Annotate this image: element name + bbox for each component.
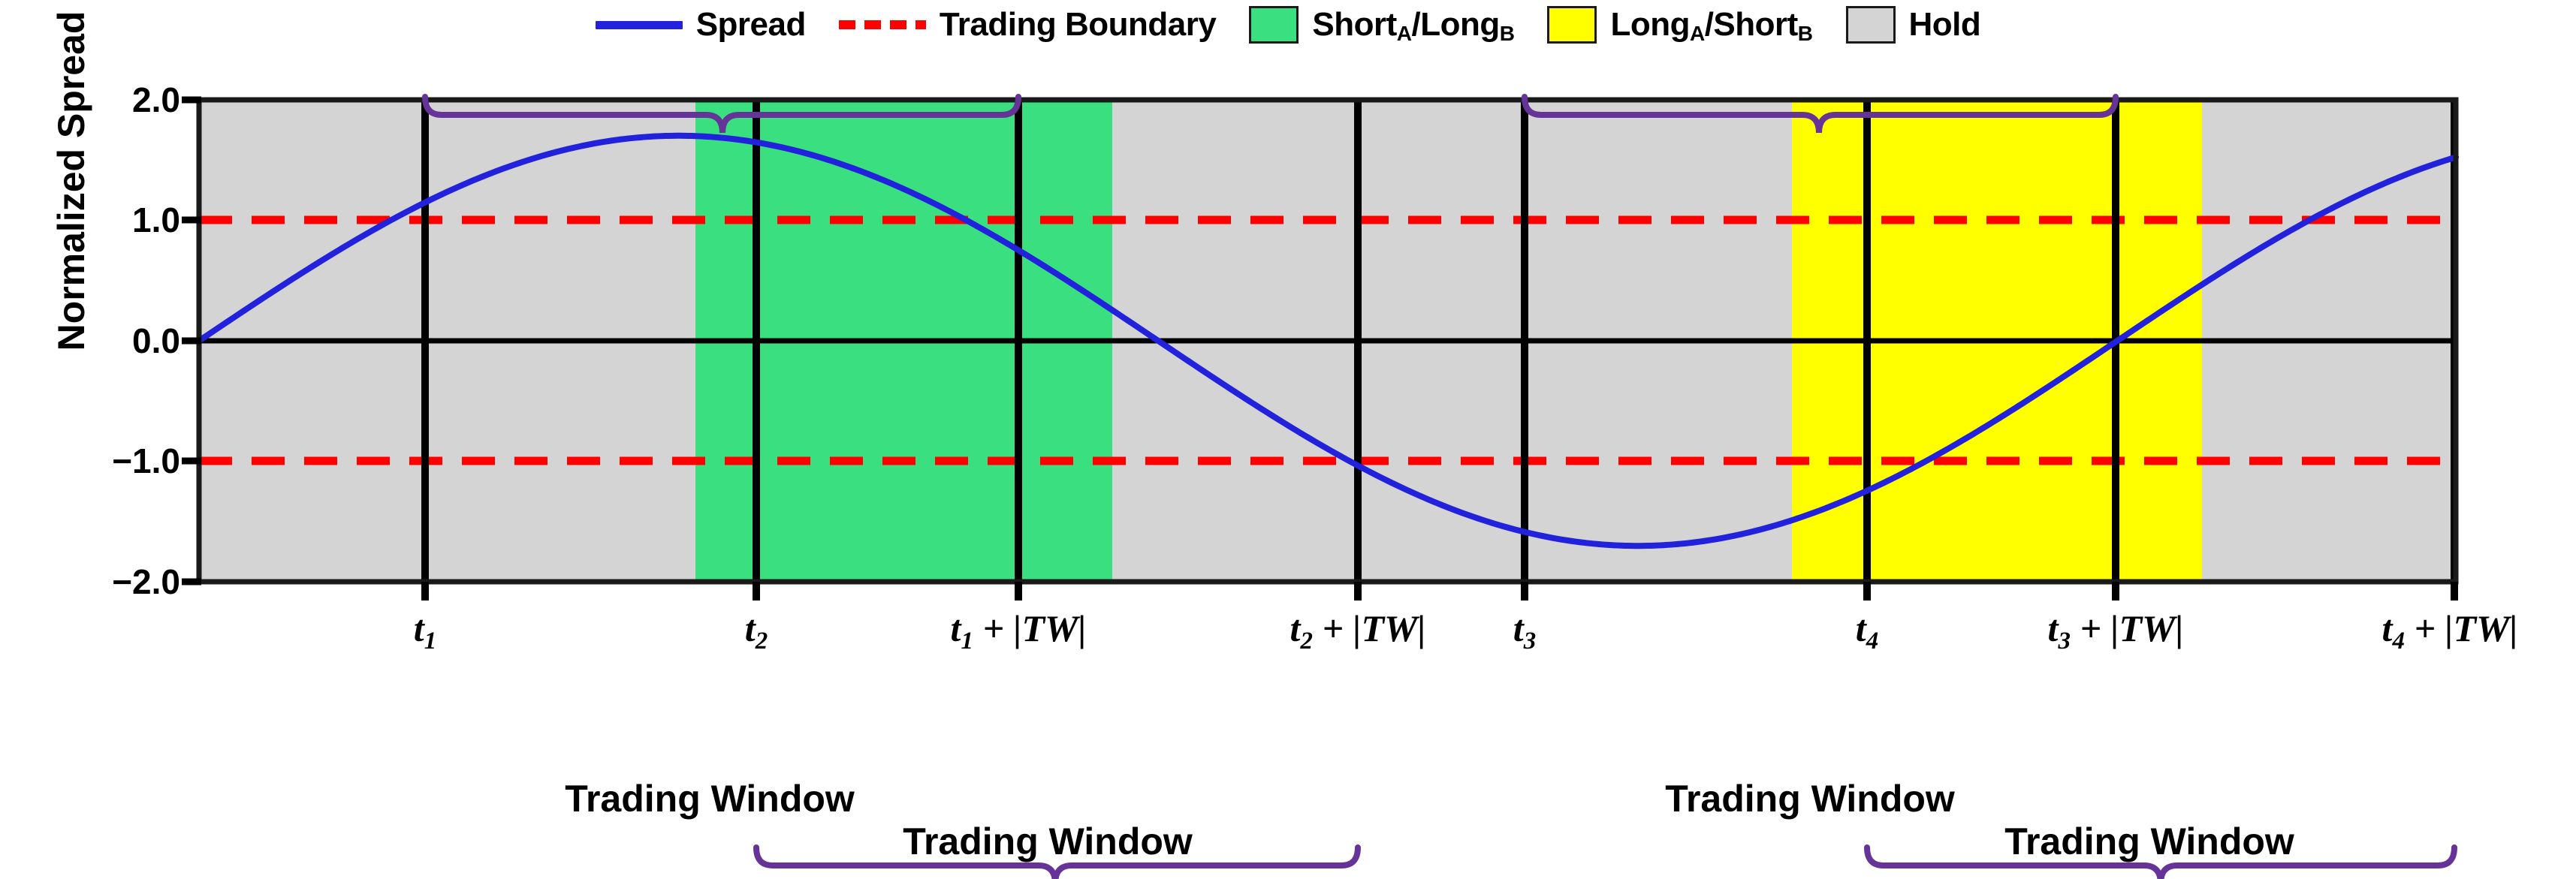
x-tick-label-t2: t2 <box>745 607 768 650</box>
brace-label-trading-window-3: Trading Window <box>1665 777 1955 820</box>
x-tick-t: t <box>1513 607 1524 649</box>
x-tick-sub: 2 <box>1300 628 1313 655</box>
x-tick-sub: 3 <box>2058 628 2071 655</box>
brace-label-trading-window-4: Trading Window <box>2004 820 2294 863</box>
x-tick-tail: + |TW| <box>973 607 1087 649</box>
x-tick-t: t <box>951 607 961 649</box>
figure-root: Spread Trading Boundary ShortA/LongB Lon… <box>0 0 2576 879</box>
x-tick-label-t1-plus-tw: t1 + |TW| <box>951 607 1087 650</box>
x-tick-sub: 3 <box>1524 628 1537 655</box>
x-tick-sub: 1 <box>961 628 973 655</box>
x-tick-sub: 4 <box>1866 628 1879 655</box>
brace-label-trading-window-1: Trading Window <box>565 777 855 820</box>
x-tick-label-t4: t4 <box>1856 607 1878 650</box>
x-tick-t: t <box>1856 607 1866 649</box>
x-tick-sub: 4 <box>2392 628 2405 655</box>
x-tick-label-t4-plus-tw: t4 + |TW| <box>2382 607 2518 650</box>
x-tick-t: t <box>1290 607 1301 649</box>
x-tick-tail: + |TW| <box>2071 607 2184 649</box>
x-tick-label-t1: t1 <box>414 607 436 650</box>
x-tick-t: t <box>2048 607 2059 649</box>
x-tick-label-t3: t3 <box>1513 607 1536 650</box>
x-tick-tail: + |TW| <box>2405 607 2518 649</box>
x-tick-label-t3-plus-tw: t3 + |TW| <box>2048 607 2184 650</box>
brace-label-trading-window-2: Trading Window <box>903 820 1193 863</box>
x-tick-t: t <box>414 607 424 649</box>
x-tick-sub: 2 <box>756 628 768 655</box>
x-tick-sub: 1 <box>424 628 437 655</box>
plot-area <box>0 0 2576 879</box>
x-tick-tail: + |TW| <box>1313 607 1426 649</box>
x-tick-t: t <box>745 607 756 649</box>
x-tick-label-t2-plus-tw: t2 + |TW| <box>1290 607 1426 650</box>
x-tick-t: t <box>2382 607 2393 649</box>
